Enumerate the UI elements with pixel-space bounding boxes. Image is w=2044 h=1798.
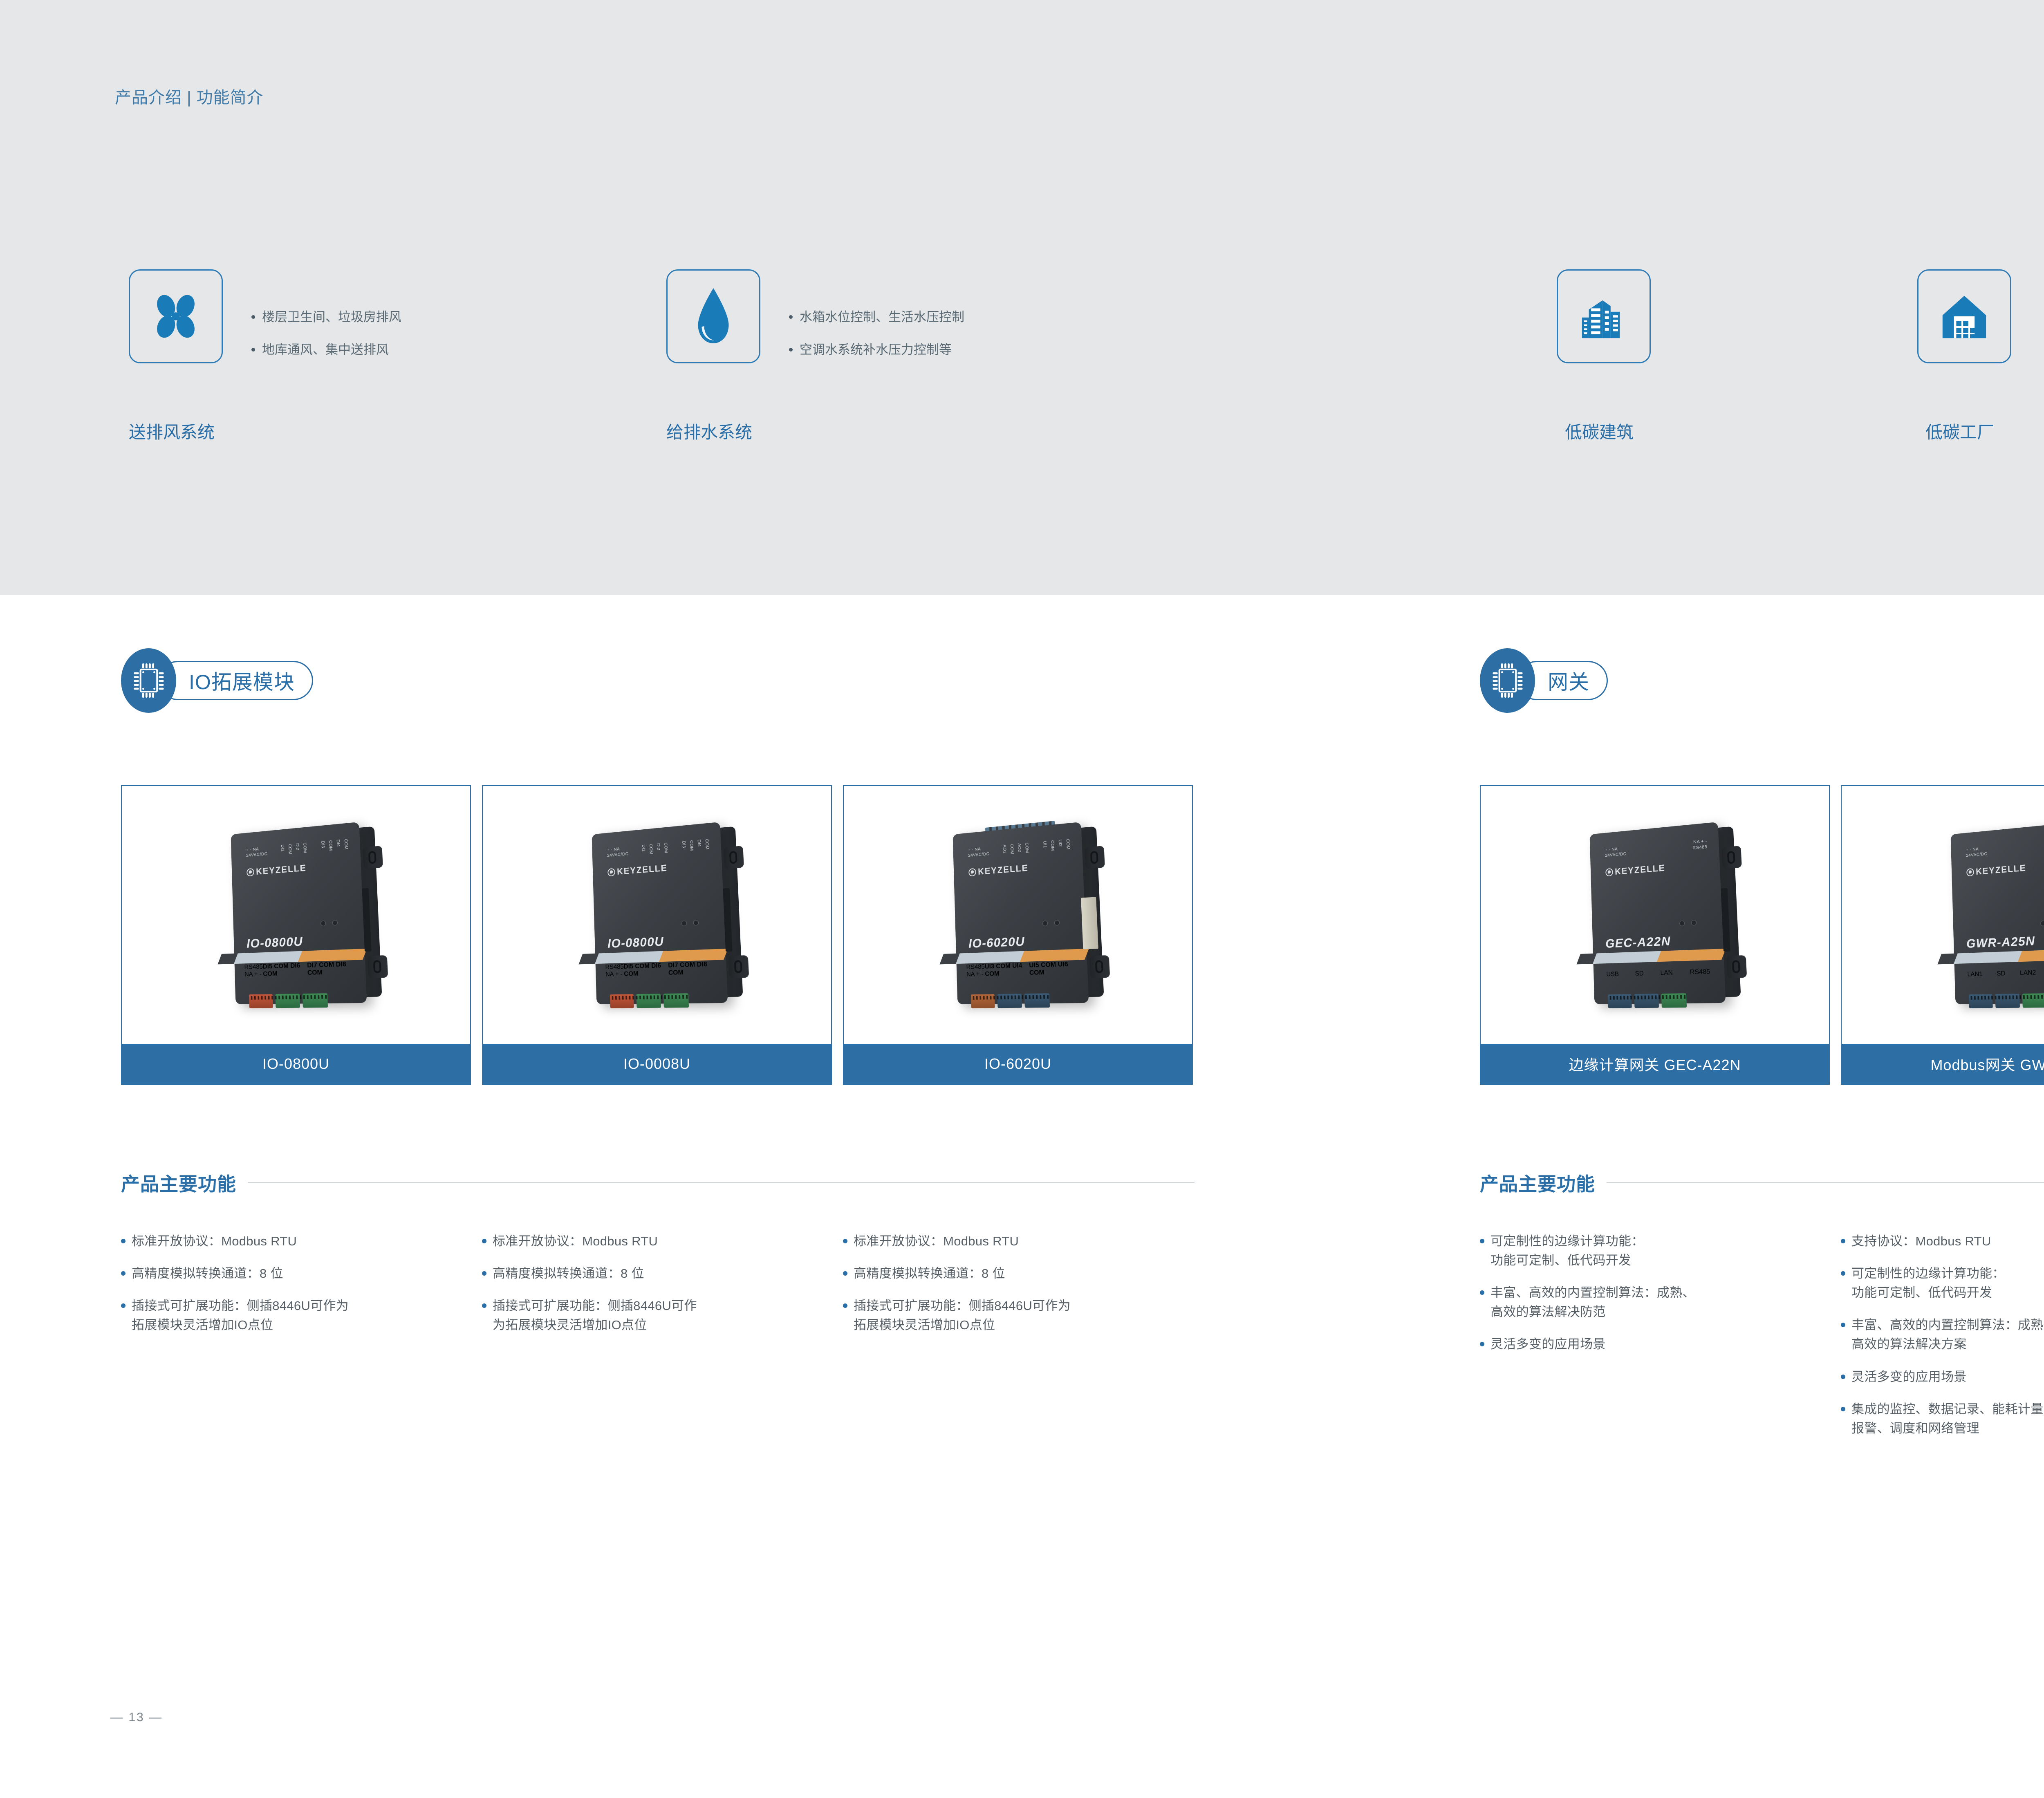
badge-pill-io: IO拓展模块 [158,661,313,700]
microchip-icon [1491,662,1524,699]
section-badge-io: IO拓展模块 [121,648,313,713]
brochure-spread: 产品介绍 | 功能简介 产品介绍 | 功能简介 送排风系统 楼层卫生间、垃圾房排… [0,0,2044,1798]
brand-logo: KEYZELLE [247,862,307,878]
product-card[interactable]: + - NA 24VAC/DC DI1 COM DI2 COM [121,785,471,1085]
device-body: + - NA 24VAC/DC AO1 COM AO2 COM [953,822,1089,1004]
brand-name: KEYZELLE [256,862,307,877]
feature-item: 标准开放协议：Modbus RTU [843,1232,1193,1251]
power-label: + - NA 24VAC/DC [607,846,629,858]
section-badge-gateway: 网关 [1480,648,1608,713]
feature-item: 高精度模拟转换通道：8 位 [843,1264,1193,1283]
features-rule [1607,1182,2044,1183]
power-pins: + - NA [246,846,259,852]
bullet-dot [789,348,793,352]
device-top-labels: + - NA 24VAC/DC DI1 COM DI2 COM [246,838,349,858]
io-port-label: LAN [1660,969,1673,977]
bottom-port-group-a: DI5 COM DI6 COM [263,962,308,978]
device-body: + - NA 24VAC/DC DI1 COM DI2 COM [231,822,367,1004]
features-column: 支持协议：Modbus RTU 可定制性的边缘计算功能： 功能可定制、低代码开发… [1841,1232,2044,1451]
badge-chip-circle [1480,648,1535,713]
bullet-dot [121,1303,126,1308]
bullet-text: 地库通风、集中送排风 [262,342,389,358]
brand-logo: KEYZELLE [968,862,1029,878]
feature-item: 灵活多变的应用场景 [1480,1335,1830,1354]
device-bottom-labels: RS485 NA + - DI5 COM DI6 COM [605,961,715,978]
feature-text: 插接式可扩展功能：侧插8446U可作 为拓展模块灵活增加IO点位 [493,1296,697,1335]
feature-text: 高精度模拟转换通道：8 位 [132,1264,283,1283]
office-building-icon [1575,288,1632,345]
led-pwr [693,920,699,925]
device-body: + - NA 24VAC/DC NA + - RS485 KEY [1589,822,1726,1004]
bus-name: RS485 [605,963,624,970]
mount-ear-bottom [368,955,388,978]
feature-item: 丰富、高效的内置控制算法：成熟、 高效的算法解决方案 [1841,1315,2044,1354]
bullet-dot [251,315,255,319]
section-title-gateway: 网关 [1548,666,1589,695]
feature-item: 丰富、高效的内置控制算法：成熟、 高效的算法解决防范 [1480,1283,1830,1321]
status-leds [320,920,338,926]
features-columns: 标准开放协议：Modbus RTU 高精度模拟转换通道：8 位 插接式可扩展功能… [121,1232,1195,1348]
mount-ear-bottom [1089,955,1110,978]
bus-pins: NA + - [244,970,262,978]
power-label: + - NA 24VAC/DC [1966,846,1988,858]
device-model-print: GEC-A22N [1605,934,1671,951]
product-card[interactable]: + - NA 24VAC/DC AO1 COM AO2 COM [843,785,1193,1085]
device-bottom-labels: USB SD LAN RS485 [1606,968,1710,978]
feature-item: 标准开放协议：Modbus RTU [121,1232,471,1251]
features-column: 标准开放协议：Modbus RTU 高精度模拟转换通道：8 位 插接式可扩展功能… [121,1232,471,1348]
panel-gateways: 网关 + - NA 24VAC/DC [1316,595,2044,1798]
mount-ear-top [363,846,383,869]
water-drop-icon [689,286,738,347]
device-model-print: IO-0800U [607,934,664,951]
feature-item: 高精度模拟转换通道：8 位 [482,1264,832,1283]
features-title: 产品主要功能 [121,1169,236,1196]
top-port-group-b: DI3 COM DI4 COM [320,838,348,851]
bullet-dot [121,1271,126,1276]
terminal-connectors [610,993,689,1008]
brand-logo: KEYZELLE [607,862,668,878]
header-left: 产品介绍 | 功能简介 [115,84,264,108]
top-port-group-a: DI1 COM DI2 COM [641,842,668,855]
features-io: 产品主要功能 标准开放协议：Modbus RTU 高精度模拟转换通道：8 位 插… [121,1169,1195,1348]
bus-label: RS485 NA + - [244,963,263,978]
status-leds [681,920,699,926]
brand-name: KEYZELLE [978,862,1029,877]
terminal-connectors [1969,993,2044,1008]
feature-text: 标准开放协议：Modbus RTU [854,1232,1019,1251]
feature-text: 插接式可扩展功能：侧插8446U可作为 拓展模块灵活增加IO点位 [854,1296,1071,1335]
feature-text: 支持协议：Modbus RTU [1851,1232,1991,1251]
led-pwr [1691,920,1697,925]
mount-ear-top [1085,846,1105,869]
terminal-green-2 [663,993,689,1008]
top-port-group-a: DI1 COM DI2 COM [280,842,307,855]
device-top-labels: + - NA 24VAC/DC NA + - RS485 [1966,838,2044,858]
device-top-labels: + - NA 24VAC/DC AO1 COM AO2 COM [968,838,1071,858]
page-number-left: — 13 — [110,1711,163,1724]
bullet-text: 空调水系统补水压力控制等 [800,342,952,358]
feature-text: 可定制性的边缘计算功能： 功能可定制、低代码开发 [1851,1264,2005,1302]
power-label: + - NA 24VAC/DC [246,846,268,858]
features-column: 标准开放协议：Modbus RTU 高精度模拟转换通道：8 位 插接式可扩展功能… [482,1232,832,1348]
led-com [2040,920,2044,926]
mount-ear-top [1721,846,1742,869]
led-pwr [332,920,338,925]
product-card[interactable]: + - NA 24VAC/DC NA + - RS485 KEY [1841,785,2044,1085]
features-title: 产品主要功能 [1480,1169,1595,1196]
terminal-connectors [971,993,1050,1008]
power-pins: + - NA [607,846,620,852]
brand-mark-icon [968,868,976,876]
feature-item: 可定制性的边缘计算功能： 功能可定制、低代码开发 [1841,1264,2044,1302]
io-port-label: LAN1 [1967,970,1983,978]
product-cards-io: + - NA 24VAC/DC DI1 COM DI2 COM [121,785,1193,1085]
brand-mark-icon [1966,868,1974,876]
led-com [1679,920,1685,926]
feature-text: 标准开放协议：Modbus RTU [132,1232,297,1251]
bullet-dot [482,1271,486,1276]
led-com [681,920,687,926]
bullet-dot [121,1239,126,1243]
device-illustration: + - NA 24VAC/DC DI1 COM DI2 COM [592,822,728,1004]
feature-item: 插接式可扩展功能：侧插8446U可作为 拓展模块灵活增加IO点位 [843,1296,1193,1335]
device-illustration: + - NA 24VAC/DC NA + - RS485 KEY [1589,822,1726,1004]
bottom-port-group-b: DI7 COM DI8 COM [668,961,715,977]
bottom-port-group-a: UI3 COM UI4 COM [985,962,1030,978]
feature-item: 集成的监控、数据记录、能耗计量、 报警、调度和网络管理 [1841,1399,2044,1438]
brand-mark-icon [247,868,254,876]
brand-mark-icon [1605,868,1613,876]
tile-water-bullets: 水箱水位控制、生活水压控制 空调水系统补水压力控制等 [789,309,964,358]
bus-pins: NA + - [966,970,984,978]
bullet-dot [1841,1271,1845,1276]
bullet-dot [482,1303,486,1308]
bullet-dot [1841,1407,1845,1411]
led-pwr [1054,920,1060,925]
feature-item: 可定制性的边缘计算功能： 功能可定制、低代码开发 [1480,1232,1830,1270]
brand-name: KEYZELLE [1976,862,2026,877]
product-image: + - NA 24VAC/DC NA + - RS485 KEY [1481,786,1829,1044]
io-port-label: USB [1606,971,1619,978]
device-bottom-labels: RS485 NA + - DI5 COM DI6 COM [244,961,354,978]
tile-lowcarbon-building-label: 低碳建筑 [1565,419,1634,443]
device-model-print: IO-6020U [968,934,1025,951]
product-image: + - NA 24VAC/DC DI1 COM DI2 COM [483,786,831,1044]
io-port-label: RS485 [1690,968,1710,976]
bullet-dot [1841,1239,1845,1243]
tile-fan-bullets: 楼层卫生间、垃圾房排风 地库通风、集中送排风 [251,309,401,358]
device-stripe [1952,948,2044,963]
bus-label: RS485 NA + - [605,963,624,978]
top-application-band: 产品介绍 | 功能简介 产品介绍 | 功能简介 送排风系统 楼层卫生间、垃圾房排… [0,0,2044,595]
device-model-print: GWR-A25N [1966,933,2035,951]
feature-item: 插接式可扩展功能：侧插8446U可作为 拓展模块灵活增加IO点位 [121,1296,471,1335]
power-label: + - NA 24VAC/DC [1605,846,1627,858]
device-bottom-labels: LAN1 SD LAN2 RS485 [1967,968,2044,978]
mount-ear-top [724,846,744,869]
power-label: + - NA 24VAC/DC [968,846,990,858]
device-illustration: + - NA 24VAC/DC DI1 COM DI2 COM [231,822,367,1004]
bullet-dot [1841,1323,1845,1327]
tile-fan-label: 送排风系统 [129,419,215,443]
terminal-connectors [249,993,328,1008]
device-illustration: + - NA 24VAC/DC AO1 COM AO2 COM [953,822,1089,1004]
device-body: + - NA 24VAC/DC NA + - RS485 KEY [1950,822,2044,1004]
feature-text: 灵活多变的应用场景 [1851,1367,1967,1386]
led-com [1042,920,1048,926]
bullet-text: 水箱水位控制、生活水压控制 [800,309,964,325]
feature-item: 插接式可扩展功能：侧插8446U可作 为拓展模块灵活增加IO点位 [482,1296,832,1335]
panel-io-modules: IO拓展模块 + - NA 24VAC/DC [0,595,1316,1798]
section-title-io: IO拓展模块 [189,666,295,695]
io-port-label: SD [1997,970,2006,978]
brand-mark-icon [607,868,615,876]
terminal-green [2022,993,2044,1008]
feature-text: 可定制性的边缘计算功能： 功能可定制、低代码开发 [1490,1232,1644,1270]
product-card[interactable]: + - NA 24VAC/DC NA + - RS485 KEY [1480,785,1830,1085]
bullet-item: 地库通风、集中送排风 [251,342,401,358]
features-rule [248,1182,1195,1183]
bottom-port-group-b: DI7 COM DI8 COM [307,961,354,977]
fan-icon [147,288,204,345]
bullet-dot [1480,1239,1484,1243]
top-port-group-b: DI3 COM DI4 COM [681,838,709,851]
bus-label: RS485 NA + - [966,963,985,978]
product-card[interactable]: + - NA 24VAC/DC DI1 COM DI2 COM [482,785,832,1085]
feature-text: 高精度模拟转换通道：8 位 [854,1264,1005,1283]
feature-text: 插接式可扩展功能：侧插8446U可作为 拓展模块灵活增加IO点位 [132,1296,349,1335]
feature-item: 支持协议：Modbus RTU [1841,1232,2044,1251]
tile-lowcarbon-factory-label: 低碳工厂 [1925,419,1994,443]
bullet-dot [1841,1375,1845,1379]
features-gateway: 产品主要功能 可定制性的边缘计算功能： 功能可定制、低代码开发 丰富、高效的内置… [1480,1169,2044,1451]
bus-name: RS485 [244,963,263,970]
bus-name: RS485 [966,963,985,970]
status-leds [2040,920,2044,926]
bullet-dot [251,348,255,352]
status-leds [1042,920,1060,926]
product-image: + - NA 24VAC/DC AO1 COM AO2 COM [844,786,1192,1044]
bus-pins: NA + - [1693,838,1707,844]
microchip-icon [132,662,166,699]
tile-lowcarbon-building [1557,269,1651,363]
feature-text: 丰富、高效的内置控制算法：成熟、 高效的算法解决防范 [1490,1283,1695,1321]
terminal-green-2 [303,993,328,1008]
feature-text: 灵活多变的应用场景 [1490,1335,1606,1354]
device-top-labels: + - NA 24VAC/DC DI1 COM DI2 COM [607,838,710,858]
badge-chip-circle [121,648,176,713]
bullet-dot [843,1239,847,1243]
tile-water [666,269,760,363]
bottom-port-group-b: UI5 COM UI6 COM [1029,961,1076,977]
led-com [320,920,326,926]
features-column: 标准开放协议：Modbus RTU 高精度模拟转换通道：8 位 插接式可扩展功能… [843,1232,1193,1348]
bullet-item: 空调水系统补水压力控制等 [789,342,964,358]
device-top-labels: + - NA 24VAC/DC NA + - RS485 [1605,838,1708,858]
bus-pins: NA + - [605,970,623,978]
product-image: + - NA 24VAC/DC DI1 COM DI2 COM [122,786,470,1044]
top-port-group-a: AO1 COM AO2 COM [1002,842,1029,855]
bus-label-top: NA + - RS485 [1692,838,1708,851]
tile-fan [129,269,223,363]
status-leds [1679,920,1697,926]
io-port-label: SD [1635,970,1644,978]
feature-text: 集成的监控、数据记录、能耗计量、 报警、调度和网络管理 [1851,1399,2044,1438]
bullet-text: 楼层卫生间、垃圾房排风 [262,309,401,325]
brand-name: KEYZELLE [1615,862,1665,877]
device-illustration: + - NA 24VAC/DC NA + - RS485 KEY [1950,822,2044,1004]
feature-item: 标准开放协议：Modbus RTU [482,1232,832,1251]
device-bottom-labels: RS485 NA + - UI3 COM UI4 COM [966,961,1076,978]
bullet-dot [789,315,793,319]
features-header: 产品主要功能 [1480,1169,2044,1196]
tile-water-label: 给排水系统 [666,419,752,443]
feature-item: 高精度模拟转换通道：8 位 [121,1264,471,1283]
mount-ear-bottom [1726,955,1747,978]
feature-item: 灵活多变的应用场景 [1841,1367,2044,1386]
power-pins: + - NA [968,846,981,852]
power-pins: + - NA [1966,846,1979,852]
feature-text: 丰富、高效的内置控制算法：成熟、 高效的算法解决方案 [1851,1315,2044,1354]
terminal-connectors [1608,993,1687,1008]
bullet-dot [843,1303,847,1308]
top-port-group-b: UI1 COM UI2 COM [1042,838,1070,851]
bullet-item: 水箱水位控制、生活水压控制 [789,309,964,325]
features-column: 可定制性的边缘计算功能： 功能可定制、低代码开发 丰富、高效的内置控制算法：成熟… [1480,1232,1830,1451]
feature-text: 高精度模拟转换通道：8 位 [493,1264,644,1283]
bullet-dot [1480,1342,1484,1346]
product-caption: IO-0800U [122,1044,470,1084]
brand-logo: KEYZELLE [1605,862,1665,878]
factory-icon [1936,288,1993,345]
expansion-card [1081,897,1098,949]
brand-logo: KEYZELLE [1966,862,2026,878]
bullet-dot [843,1271,847,1276]
bullet-dot [482,1239,486,1243]
device-body: + - NA 24VAC/DC DI1 COM DI2 COM [592,822,728,1004]
product-cards-gateway: + - NA 24VAC/DC NA + - RS485 KEY [1480,785,2044,1085]
product-caption: IO-0008U [483,1044,831,1084]
io-port-label: LAN2 [2020,969,2036,977]
brand-name: KEYZELLE [617,862,668,877]
product-image: + - NA 24VAC/DC NA + - RS485 KEY [1842,786,2044,1044]
product-caption: IO-6020U [844,1044,1192,1084]
terminal-green [1661,993,1687,1008]
mount-ear-bottom [728,955,749,978]
power-pins: + - NA [1605,846,1618,852]
feature-text: 标准开放协议：Modbus RTU [493,1232,658,1251]
bullet-item: 楼层卫生间、垃圾房排风 [251,309,401,325]
features-columns: 可定制性的边缘计算功能： 功能可定制、低代码开发 丰富、高效的内置控制算法：成熟… [1480,1232,2044,1451]
product-caption: 边缘计算网关 GEC-A22N [1481,1044,1829,1084]
bus-name: RS485 [1692,844,1708,850]
bottom-port-group-a: DI5 COM DI6 COM [624,962,669,978]
device-model-print: IO-0800U [247,934,303,951]
terminal-blue-2 [1024,993,1050,1008]
features-header: 产品主要功能 [121,1169,1195,1196]
bullet-dot [1480,1290,1484,1295]
tile-lowcarbon-factory [1917,269,2011,363]
product-caption: Modbus网关 GWR-A25N [1842,1044,2044,1084]
